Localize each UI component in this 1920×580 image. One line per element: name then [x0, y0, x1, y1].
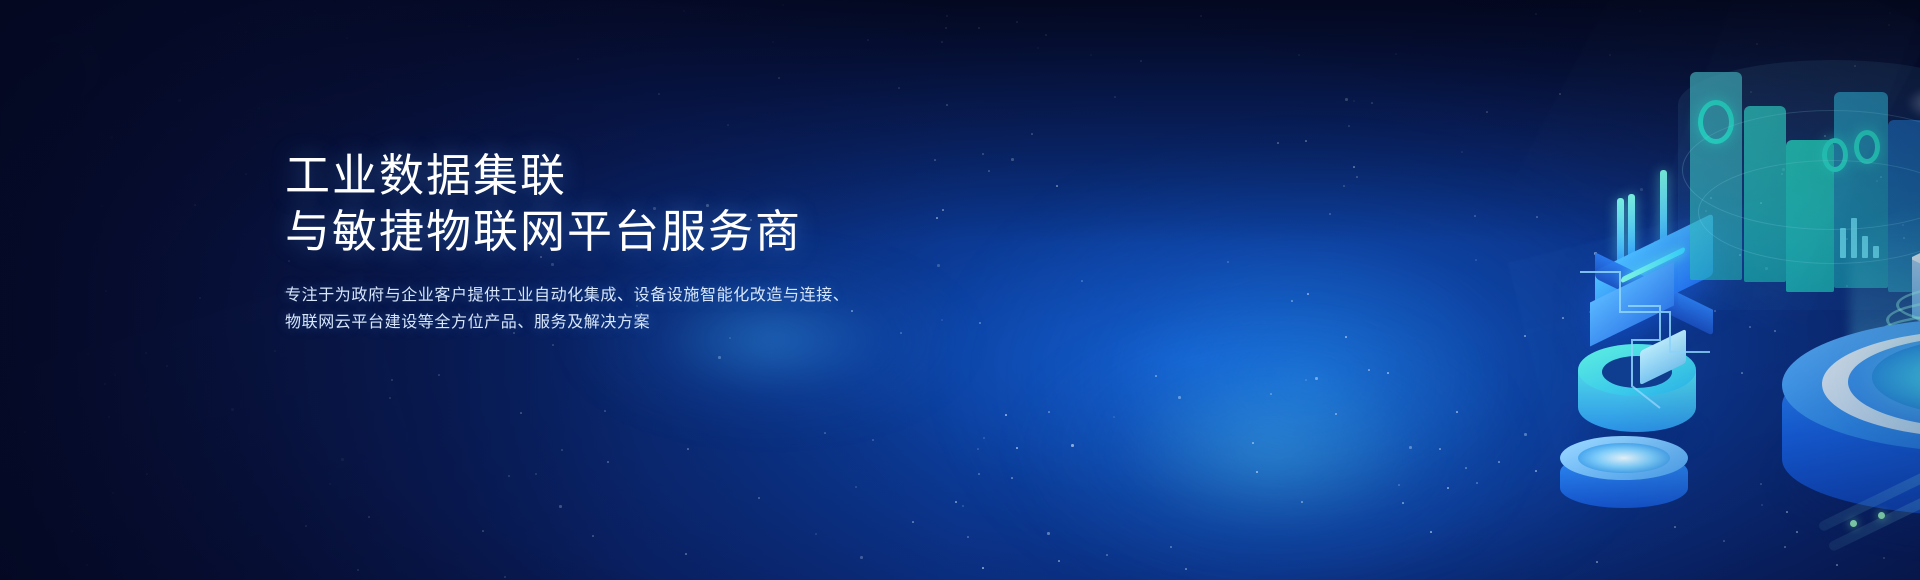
- headline-line-1: 工业数据集联: [285, 148, 925, 204]
- page-subtitle: 专注于为政府与企业客户提供工业自动化集成、设备设施智能化改造与连接、 物联网云平…: [285, 282, 815, 336]
- hero-copy: 工业数据集联 与敏捷物联网平台服务商 专注于为政府与企业客户提供工业自动化集成、…: [285, 148, 925, 336]
- subtitle-line-2: 物联网云平台建设等全方位产品、服务及解决方案: [285, 309, 815, 336]
- page-title: 工业数据集联 与敏捷物联网平台服务商: [285, 148, 925, 260]
- hero-banner: 工业数据集联 与敏捷物联网平台服务商 专注于为政府与企业客户提供工业自动化集成、…: [0, 0, 1920, 580]
- headline-line-2: 与敏捷物联网平台服务商: [285, 204, 925, 260]
- subtitle-line-1: 专注于为政府与企业客户提供工业自动化集成、设备设施智能化改造与连接、: [285, 282, 815, 309]
